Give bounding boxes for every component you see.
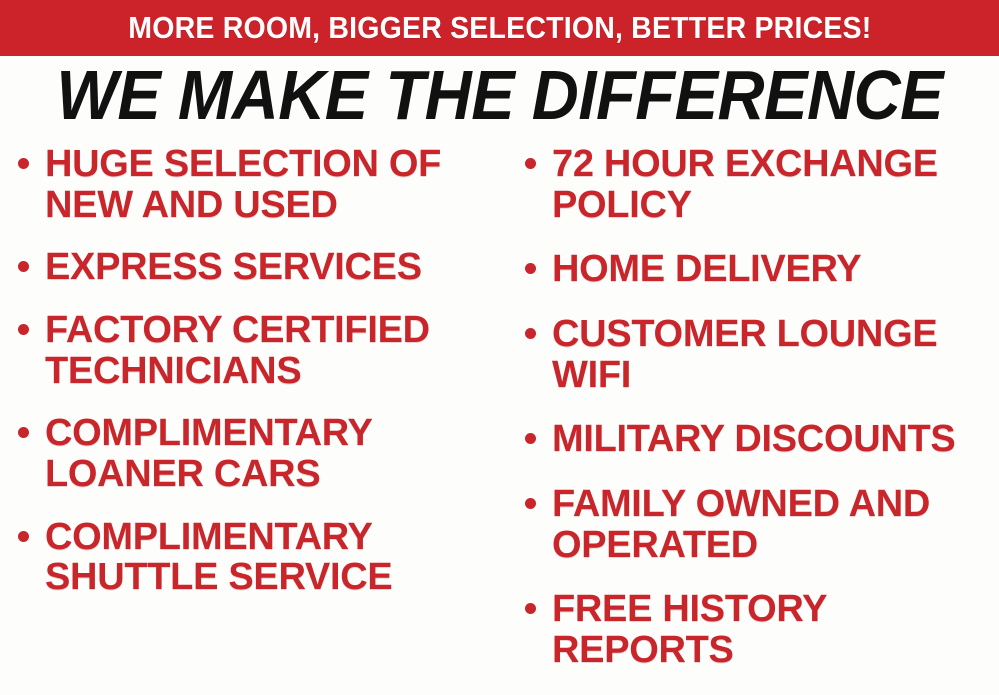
list-item-label: FACTORY CERTIFIED TECHNICIANS — [45, 310, 505, 391]
list-item-label: COMPLIMENTARY SHUTTLE SERVICE — [45, 517, 505, 598]
list-item: COMPLIMENTARY LOANER CARS — [18, 413, 505, 494]
bullet-dot-icon — [525, 263, 536, 274]
bullet-dot-icon — [525, 433, 536, 444]
bullet-dot-icon — [525, 498, 536, 509]
headline-container: WE MAKE THE DIFFERENCE — [0, 56, 999, 134]
list-item-label: MILITARY DISCOUNTS — [552, 419, 955, 460]
list-item-label: EXPRESS SERVICES — [45, 247, 422, 288]
list-item-label: COMPLIMENTARY LOANER CARS — [45, 413, 505, 494]
list-item: HUGE SELECTION OF NEW AND USED — [18, 144, 505, 225]
bullet-dot-icon — [525, 328, 536, 339]
list-item: FAMILY OWNED AND OPERATED — [525, 484, 999, 565]
bullet-dot-icon — [525, 603, 536, 614]
list-item: FREE HISTORY REPORTS — [525, 589, 999, 670]
list-item: MILITARY DISCOUNTS — [525, 419, 999, 460]
page-title: WE MAKE THE DIFFERENCE — [56, 60, 943, 130]
bullet-dot-icon — [525, 158, 536, 169]
bullet-dot-icon — [18, 324, 29, 335]
bullet-dot-icon — [18, 427, 29, 438]
promo-banner-text: MORE ROOM, BIGGER SELECTION, BETTER PRIC… — [128, 12, 871, 45]
list-item-label: FREE HISTORY REPORTS — [552, 589, 999, 670]
promo-banner: MORE ROOM, BIGGER SELECTION, BETTER PRIC… — [0, 0, 999, 56]
list-item-label: FAMILY OWNED AND OPERATED — [552, 484, 999, 565]
list-item: 72 HOUR EXCHANGE POLICY — [525, 144, 999, 225]
bullet-dot-icon — [18, 261, 29, 272]
list-item-label: HOME DELIVERY — [552, 249, 861, 290]
features-column-right: 72 HOUR EXCHANGE POLICY HOME DELIVERY CU… — [505, 144, 999, 695]
bullet-dot-icon — [18, 158, 29, 169]
list-item: CUSTOMER LOUNGE WIFI — [525, 314, 999, 395]
features-columns: HUGE SELECTION OF NEW AND USED EXPRESS S… — [0, 134, 999, 695]
list-item: EXPRESS SERVICES — [18, 247, 505, 288]
list-item: COMPLIMENTARY SHUTTLE SERVICE — [18, 517, 505, 598]
list-item-label: 72 HOUR EXCHANGE POLICY — [552, 144, 999, 225]
bullet-dot-icon — [18, 531, 29, 542]
list-item-label: CUSTOMER LOUNGE WIFI — [552, 314, 999, 395]
features-column-left: HUGE SELECTION OF NEW AND USED EXPRESS S… — [0, 144, 505, 695]
list-item-label: HUGE SELECTION OF NEW AND USED — [45, 144, 505, 225]
list-item: HOME DELIVERY — [525, 249, 999, 290]
list-item: FACTORY CERTIFIED TECHNICIANS — [18, 310, 505, 391]
